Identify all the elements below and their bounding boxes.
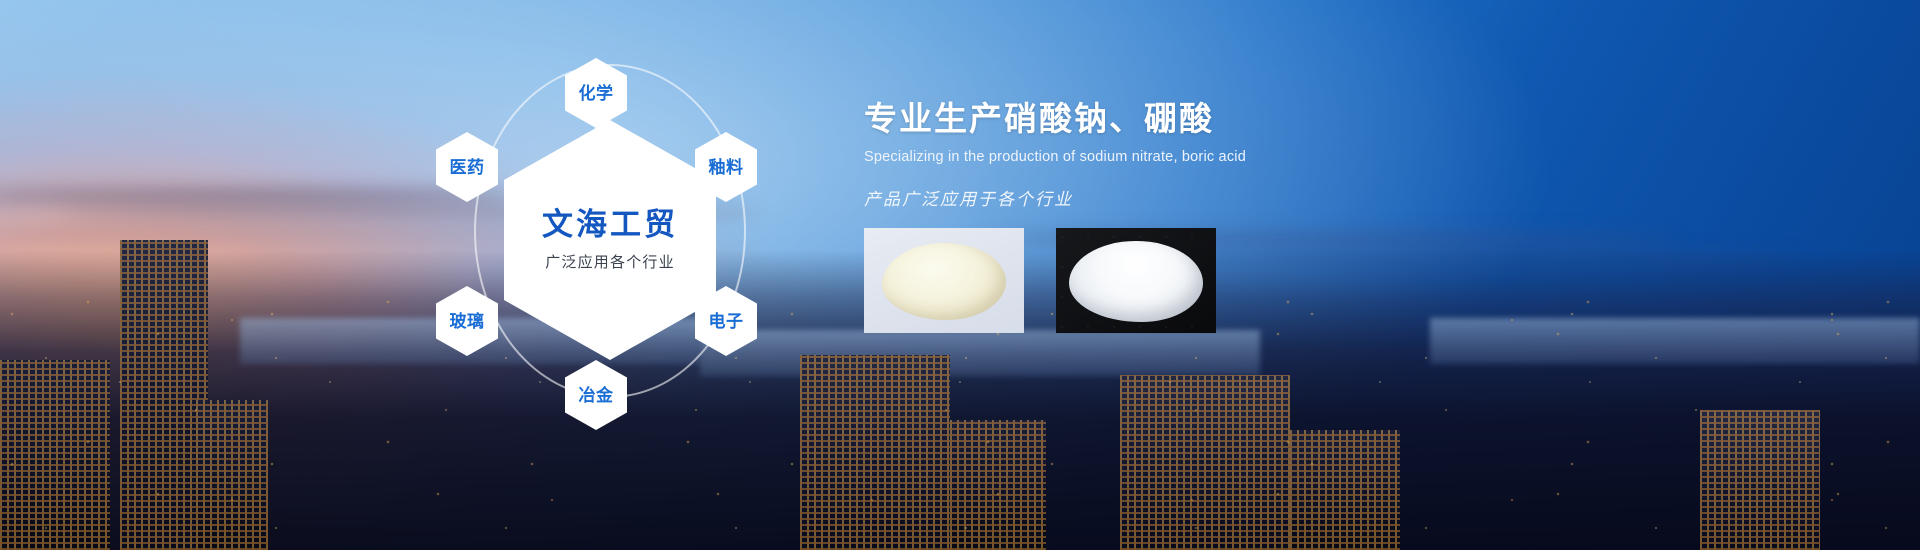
company-tagline: 广泛应用各个行业 xyxy=(545,251,675,272)
headline-english-text: Specializing in the production of sodium… xyxy=(864,149,1624,165)
hex-node-label: 医药 xyxy=(450,159,485,176)
promotional-banner: 化学 釉料 电子 冶金 玻璃 医药 文海工贸 广泛应用各个行业 专业生产硝酸钠、… xyxy=(0,0,1920,550)
hex-node-label: 玻璃 xyxy=(450,313,485,330)
marketing-copy: 专业生产硝酸钠、硼酸 Specializing in the productio… xyxy=(864,100,1624,210)
headline-text: 专业生产硝酸钠、硼酸 xyxy=(864,100,1624,139)
powder-grain-texture xyxy=(864,228,1024,333)
tagline-text: 产品广泛应用于各个行业 xyxy=(864,185,1624,210)
company-name: 文海工贸 xyxy=(542,208,678,242)
hex-node-label: 电子 xyxy=(709,313,744,330)
industry-hex-diagram: 化学 釉料 电子 冶金 玻璃 医药 文海工贸 广泛应用各个行业 xyxy=(430,20,790,460)
hex-node-label: 化学 xyxy=(579,85,614,102)
product-photo-boric-acid xyxy=(1056,228,1216,333)
product-photo-group xyxy=(864,228,1216,333)
hex-node-label: 釉料 xyxy=(709,159,744,176)
product-photo-sodium-nitrate xyxy=(864,228,1024,333)
powder-grain-texture xyxy=(1056,228,1216,333)
hex-node-label: 冶金 xyxy=(579,387,614,404)
